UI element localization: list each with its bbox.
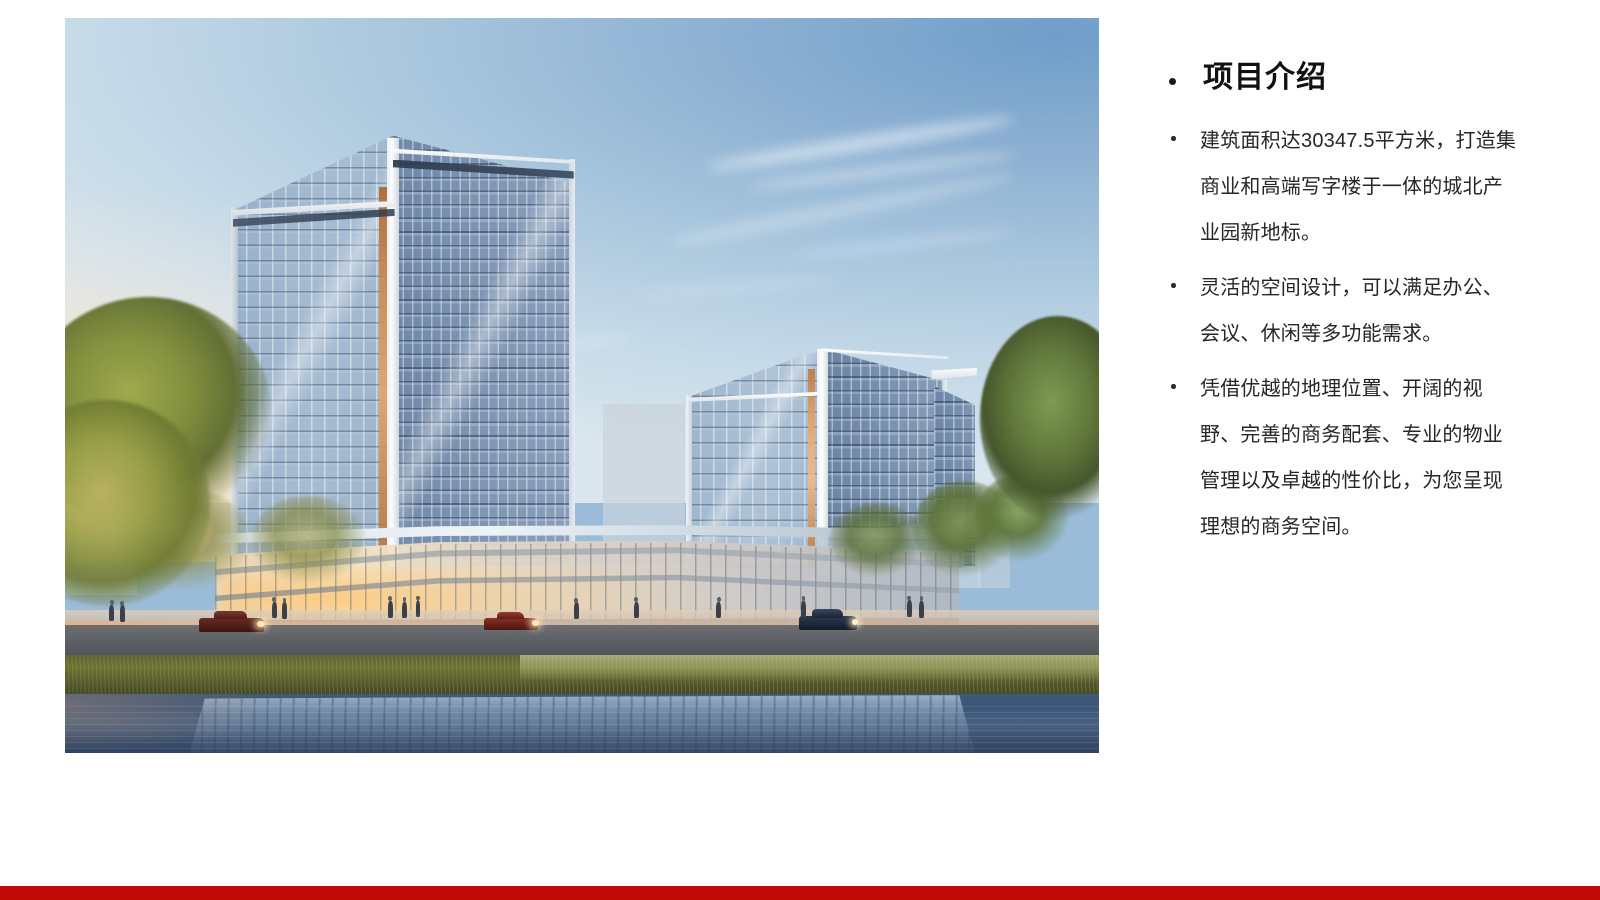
person-body	[120, 605, 125, 622]
pedestrian	[272, 602, 277, 619]
person-body	[801, 601, 806, 618]
tower-facade-right	[393, 136, 574, 566]
footer-accent-bar	[0, 886, 1600, 900]
person-body	[388, 601, 393, 618]
bullet-text: 凭借优越的地理位置、开阔的视野、完善的商务配套、专业的物业管理以及卓越的性价比，…	[1200, 366, 1518, 550]
pedestrian	[416, 600, 421, 617]
person-head	[717, 597, 721, 602]
person-body	[907, 600, 912, 617]
car	[484, 618, 538, 630]
grass-highlight	[520, 655, 1099, 682]
car-headlight	[257, 621, 265, 627]
person-head	[634, 597, 638, 602]
person-body	[716, 602, 721, 619]
person-head	[283, 598, 287, 603]
person-body	[416, 600, 421, 617]
tree-foliage	[830, 503, 923, 577]
person-head	[574, 598, 578, 603]
person-head	[416, 596, 420, 601]
person-head	[388, 596, 392, 601]
glass-reflection	[393, 136, 574, 566]
bullet-text: 灵活的空间设计，可以满足办公、会议、休闲等多功能需求。	[1200, 265, 1518, 357]
architectural-rendering	[65, 18, 1099, 753]
person-body	[109, 605, 114, 622]
car-roof	[812, 609, 843, 617]
pedestrian	[120, 605, 125, 622]
slide-canvas: 项目介绍 建筑面积达30347.5平方米，打造集商业和高端写字楼于一体的城北产业…	[0, 0, 1600, 900]
car	[799, 616, 857, 629]
person-body	[282, 602, 287, 619]
person-body	[272, 602, 277, 619]
car-headlight	[532, 620, 538, 626]
car-roof	[497, 612, 524, 619]
accent-stripe	[379, 187, 387, 565]
pedestrian	[716, 602, 721, 619]
person-head	[272, 597, 276, 602]
pedestrian	[907, 600, 912, 617]
bullet-item: 灵活的空间设计，可以满足办公、会议、休闲等多功能需求。	[1150, 265, 1550, 357]
bullet-dot-icon	[1171, 283, 1176, 288]
person-head	[110, 600, 114, 605]
bullet-text: 建筑面积达30347.5平方米，打造集商业和高端写字楼于一体的城北产业园新地标。	[1200, 118, 1518, 256]
pedestrian	[634, 602, 639, 619]
pedestrian	[109, 605, 114, 622]
pedestrian	[801, 601, 806, 618]
person-body	[574, 602, 579, 619]
bullet-dot-icon	[1171, 384, 1176, 389]
car	[199, 618, 263, 632]
pedestrian	[574, 602, 579, 619]
bullet-dot-icon	[1169, 78, 1176, 85]
bullet-dot-icon	[1171, 136, 1176, 141]
person-body	[634, 602, 639, 619]
pedestrian	[402, 602, 407, 619]
facade-edge	[569, 159, 575, 566]
car-roof	[214, 611, 247, 620]
section-title-row: 项目介绍	[1150, 60, 1550, 96]
pedestrian	[388, 601, 393, 618]
bullet-item: 建筑面积达30347.5平方米，打造集商业和高端写字楼于一体的城北产业园新地标。	[1150, 118, 1550, 256]
bullet-item: 凭借优越的地理位置、开阔的视野、完善的商务配套、专业的物业管理以及卓越的性价比，…	[1150, 366, 1550, 550]
text-panel: 项目介绍 建筑面积达30347.5平方米，打造集商业和高端写字楼于一体的城北产业…	[1150, 60, 1550, 559]
pedestrian	[919, 601, 924, 618]
tree-foliage	[251, 496, 365, 584]
rendering-scene	[65, 18, 1099, 753]
water-warm-glow	[65, 694, 334, 753]
pedestrian	[282, 602, 287, 619]
person-head	[120, 601, 124, 606]
person-body	[402, 602, 407, 619]
person-body	[919, 601, 924, 618]
page-title: 项目介绍	[1203, 60, 1327, 96]
